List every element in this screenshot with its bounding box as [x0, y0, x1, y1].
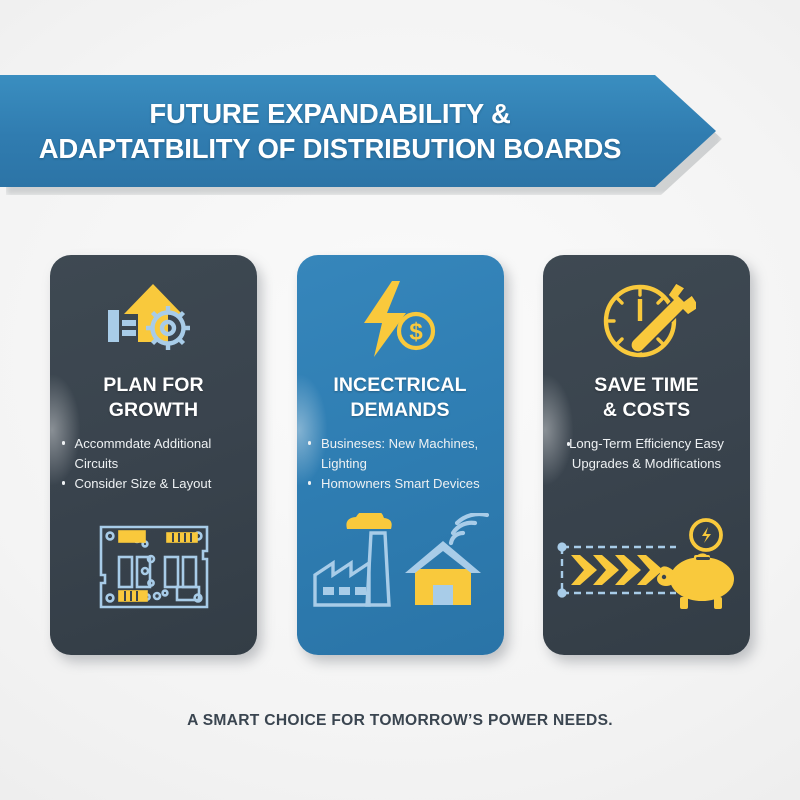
card-save-time-and-costs[interactable]: SAVE TIME & COSTS Long-Term Efficiency E… [543, 255, 750, 655]
card-title-line-2: & COSTS [603, 399, 690, 421]
factory-smart-home-icon [297, 513, 504, 613]
bullet-list-plan-for-growth: Accommdate Additional Circuits Consider … [56, 434, 252, 495]
bullet-dot-icon [567, 442, 570, 445]
page-title-line-1: FUTURE EXPANDABILITY & [149, 96, 510, 131]
card-title-line-1: PLAN FOR [103, 374, 203, 396]
bullet-dot-icon [308, 441, 311, 444]
svg-text:$: $ [409, 319, 423, 346]
lightning-bolt-coin-icon: $ [354, 277, 446, 363]
bullet-text: Busineses: New Machines, Lighting [321, 436, 478, 471]
cards-row: PLAN FOR GROWTH Accommdate Additional Ci… [50, 255, 750, 655]
card-incectrical-demands[interactable]: $ INCECTRICAL DEMANDS Busineses: New Mac… [297, 255, 504, 655]
list-item: Accommdate Additional Circuits [56, 434, 252, 473]
bullet-text: Accommdate Additional Circuits [75, 436, 212, 471]
card-wrapper-plan-for-growth: PLAN FOR GROWTH Accommdate Additional Ci… [50, 255, 257, 655]
card-title-plan-for-growth: PLAN FOR GROWTH [103, 373, 203, 422]
card-title-line-2: GROWTH [109, 399, 198, 421]
bullet-dot-icon [308, 481, 311, 484]
circuit-board-icon [50, 521, 257, 613]
footer-tagline: A SMART CHOICE FOR TOMORROW’S POWER NEED… [0, 712, 800, 730]
chevrons-piggy-bank-icon [543, 517, 750, 613]
list-item: Long-Term Efficiency Easy Upgrades & Mod… [547, 434, 747, 473]
list-item: Homowners Smart Devices [302, 474, 498, 494]
list-item: Consider Size & Layout [56, 474, 252, 494]
card-title-line-1: SAVE TIME [594, 374, 699, 396]
header-banner: FUTURE EXPANDABILITY & ADAPTATBILITY OF … [0, 75, 722, 187]
page-title-line-2: ADAPTATBILITY OF DISTRIBUTION BOARDS [39, 131, 622, 166]
card-wrapper-incectrical-demands: $ INCECTRICAL DEMANDS Busineses: New Mac… [297, 255, 504, 655]
bullet-text: Long-Term Efficiency Easy Upgrades & Mod… [569, 436, 724, 471]
bullet-dot-icon [62, 481, 65, 484]
bullet-dot-icon [62, 441, 65, 444]
page-title: FUTURE EXPANDABILITY & ADAPTATBILITY OF … [0, 75, 660, 187]
bullet-list-save-time-and-costs: Long-Term Efficiency Easy Upgrades & Mod… [547, 434, 747, 474]
bullet-text: Consider Size & Layout [75, 476, 212, 491]
card-title-save-time-and-costs: SAVE TIME & COSTS [594, 373, 699, 422]
bullet-list-incectrical-demands: Busineses: New Machines, Lighting Homown… [302, 434, 498, 495]
growth-arrow-gear-icon [106, 277, 202, 363]
card-title-incectrical-demands: INCECTRICAL DEMANDS [333, 373, 466, 422]
card-title-line-1: INCECTRICAL [333, 374, 466, 396]
card-wrapper-save-time-and-costs: SAVE TIME & COSTS Long-Term Efficiency E… [543, 255, 750, 655]
list-item: Busineses: New Machines, Lighting [302, 434, 498, 473]
clock-wrench-icon [598, 277, 696, 363]
card-title-line-2: DEMANDS [350, 399, 449, 421]
bullet-text: Homowners Smart Devices [321, 476, 480, 491]
card-plan-for-growth[interactable]: PLAN FOR GROWTH Accommdate Additional Ci… [50, 255, 257, 655]
